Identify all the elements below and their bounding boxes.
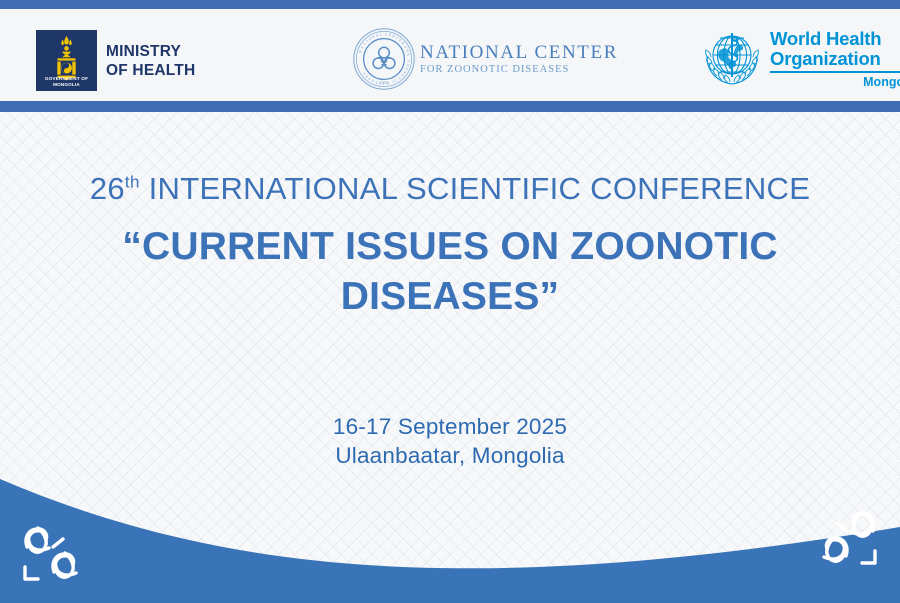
mongolian-knot-ornament-right: [804, 501, 888, 575]
logo-header-band: GOVERNMENT OF MONGOLIA MINISTRY OF HEALT…: [0, 9, 900, 101]
conference-heading: 26th INTERNATIONAL SCIENTIFIC CONFERENCE: [0, 170, 900, 208]
svg-text:C: C: [391, 79, 395, 84]
national-center-name-line2: FOR ZOONOTIC DISEASES: [420, 63, 618, 76]
slide-body: 26th INTERNATIONAL SCIENTIFIC CONFERENCE…: [0, 112, 900, 603]
conference-theme: “CURRENT ISSUES ON ZOONOTIC DISEASES”: [0, 222, 900, 322]
mongolian-knot-ornament-left: [12, 517, 96, 591]
who-logo: World Health Organization Mongolia: [701, 27, 900, 89]
ministry-name-line1: MINISTRY: [106, 42, 195, 61]
who-country-label: Mongolia: [770, 75, 900, 89]
header-divider-bar: [0, 101, 900, 112]
svg-text:Z: Z: [406, 60, 410, 63]
state-emblem-caption: GOVERNMENT OF MONGOLIA: [36, 76, 97, 88]
who-name-line2: Organization: [770, 49, 900, 69]
biohazard-seal-icon: N A T I O N A L C E N T E R F O R: [352, 27, 416, 91]
national-center-zoonotic-diseases-logo: N A T I O N A L C E N T E R F O R: [352, 27, 618, 91]
svg-text:S: S: [362, 71, 367, 75]
svg-text:R: R: [400, 41, 405, 46]
ministry-of-health-name: MINISTRY OF HEALTH: [106, 42, 195, 80]
bottom-wave-decoration: [0, 423, 900, 603]
mongolia-state-emblem-icon: GOVERNMENT OF MONGOLIA: [36, 30, 97, 91]
svg-text:L: L: [380, 32, 383, 36]
conference-number: 26: [90, 171, 125, 206]
conference-title-slide: GOVERNMENT OF MONGOLIA MINISTRY OF HEALT…: [0, 0, 900, 603]
who-name: World Health Organization Mongolia: [770, 29, 900, 89]
ministry-name-line2: OF HEALTH: [106, 61, 195, 80]
svg-text:1951: 1951: [379, 81, 388, 85]
conference-ordinal-suffix: th: [125, 173, 140, 192]
conference-label: INTERNATIONAL SCIENTIFIC CONFERENCE: [149, 171, 811, 206]
conference-theme-line1: “CURRENT ISSUES ON ZOONOTIC: [0, 222, 900, 272]
conference-theme-line2: DISEASES”: [0, 272, 900, 322]
ministry-of-health-logo: GOVERNMENT OF MONGOLIA MINISTRY OF HEALT…: [36, 30, 195, 91]
state-emblem-caption-line1: GOVERNMENT OF: [45, 76, 88, 81]
state-emblem-caption-line2: MONGOLIA: [53, 82, 80, 87]
who-rule-divider: [770, 71, 900, 73]
national-center-name: NATIONAL CENTER FOR ZOONOTIC DISEASES: [420, 43, 618, 76]
top-accent-bar: [0, 0, 900, 9]
svg-text:R: R: [406, 53, 410, 57]
title-block: 26th INTERNATIONAL SCIENTIFIC CONFERENCE…: [0, 170, 900, 322]
national-center-name-line1: NATIONAL CENTER: [420, 43, 618, 63]
who-emblem-icon: [701, 27, 763, 89]
wave-blue-shape: [0, 479, 900, 603]
who-name-line1: World Health: [770, 29, 900, 49]
